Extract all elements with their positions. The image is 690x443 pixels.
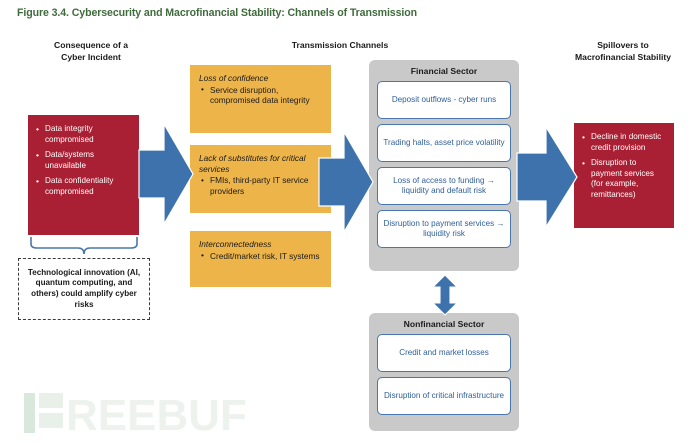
column-header-transmission: Transmission Channels <box>250 40 430 52</box>
list-item: Service disruption, compromised data int… <box>210 85 324 106</box>
list-item: Data confidentiality compromised <box>45 176 133 197</box>
nonfinancial-sector-item: Credit and market losses <box>377 334 511 372</box>
list-item: Data integrity compromised <box>45 124 133 145</box>
list-item: Data/systems unavailable <box>45 150 133 171</box>
column-header-spillovers: Spillovers to Macrofinancial Stability <box>560 40 686 63</box>
nonfinancial-sector-item: Disruption of critical infrastructure <box>377 377 511 415</box>
arrow-right-icon-financial-to-spillovers <box>516 125 578 229</box>
list-item: FMIs, third-party IT service providers <box>210 175 324 196</box>
technological-innovation-text: Technological innovation (AI, quantum co… <box>19 268 149 310</box>
column-header-spillovers-line1: Spillovers to <box>560 40 686 52</box>
freebuf-watermark: REEBUF <box>22 387 262 437</box>
channel-box-lack-of-substitutes: Lack of substitutes for critical service… <box>190 145 331 213</box>
channel-heading: Lack of substitutes for critical service… <box>199 153 324 174</box>
consequence-box: Data integrity compromised Data/systems … <box>28 115 139 235</box>
spillovers-list: Decline in domestic credit provision Dis… <box>574 123 674 201</box>
figure-canvas: Figure 3.4. Cybersecurity and Macrofinan… <box>0 0 690 443</box>
channel-list: Credit/market risk, IT systems <box>199 251 324 262</box>
column-header-spillovers-line2: Macrofinancial Stability <box>560 52 686 64</box>
list-item: Decline in domestic credit provision <box>591 132 668 153</box>
financial-sector-panel: Financial Sector Deposit outflows - cybe… <box>369 60 519 271</box>
financial-sector-item: Loss of access to funding → liquidity an… <box>377 167 511 205</box>
arrow-double-vertical-icon-sector-link <box>432 274 458 316</box>
channel-box-interconnectedness: Interconnectedness Credit/market risk, I… <box>190 231 331 287</box>
financial-sector-item: Trading halts, asset price volatility <box>377 124 511 162</box>
channel-heading: Loss of confidence <box>199 73 324 84</box>
column-header-consequence: Consequence of a Cyber Incident <box>16 40 166 63</box>
column-header-consequence-line1: Consequence of a <box>16 40 166 52</box>
arrow-right-icon-channels-to-financial <box>318 130 374 234</box>
channel-box-loss-of-confidence: Loss of confidence Service disruption, c… <box>190 65 331 133</box>
curly-brace-icon <box>29 236 139 258</box>
financial-sector-title: Financial Sector <box>377 66 511 76</box>
financial-sector-item: Deposit outflows - cyber runs <box>377 81 511 119</box>
consequence-list: Data integrity compromised Data/systems … <box>28 115 139 198</box>
list-item: Disruption to payment services (for exam… <box>591 158 668 200</box>
arrow-right-icon-consequence-to-channels <box>138 122 194 226</box>
spillovers-box: Decline in domestic credit provision Dis… <box>574 123 674 228</box>
channel-list: FMIs, third-party IT service providers <box>199 175 324 196</box>
channel-list: Service disruption, compromised data int… <box>199 85 324 106</box>
financial-sector-item: Disruption to payment services → liquidi… <box>377 210 511 248</box>
list-item: Credit/market risk, IT systems <box>210 251 324 262</box>
figure-title: Figure 3.4. Cybersecurity and Macrofinan… <box>17 7 417 19</box>
column-header-consequence-line2: Cyber Incident <box>16 52 166 64</box>
nonfinancial-sector-panel: Nonfinancial Sector Credit and market lo… <box>369 313 519 431</box>
nonfinancial-sector-title: Nonfinancial Sector <box>377 319 511 329</box>
technological-innovation-box: Technological innovation (AI, quantum co… <box>18 258 150 320</box>
channel-heading: Interconnectedness <box>199 239 324 250</box>
freebuf-watermark-text: REEBUF <box>66 391 247 437</box>
